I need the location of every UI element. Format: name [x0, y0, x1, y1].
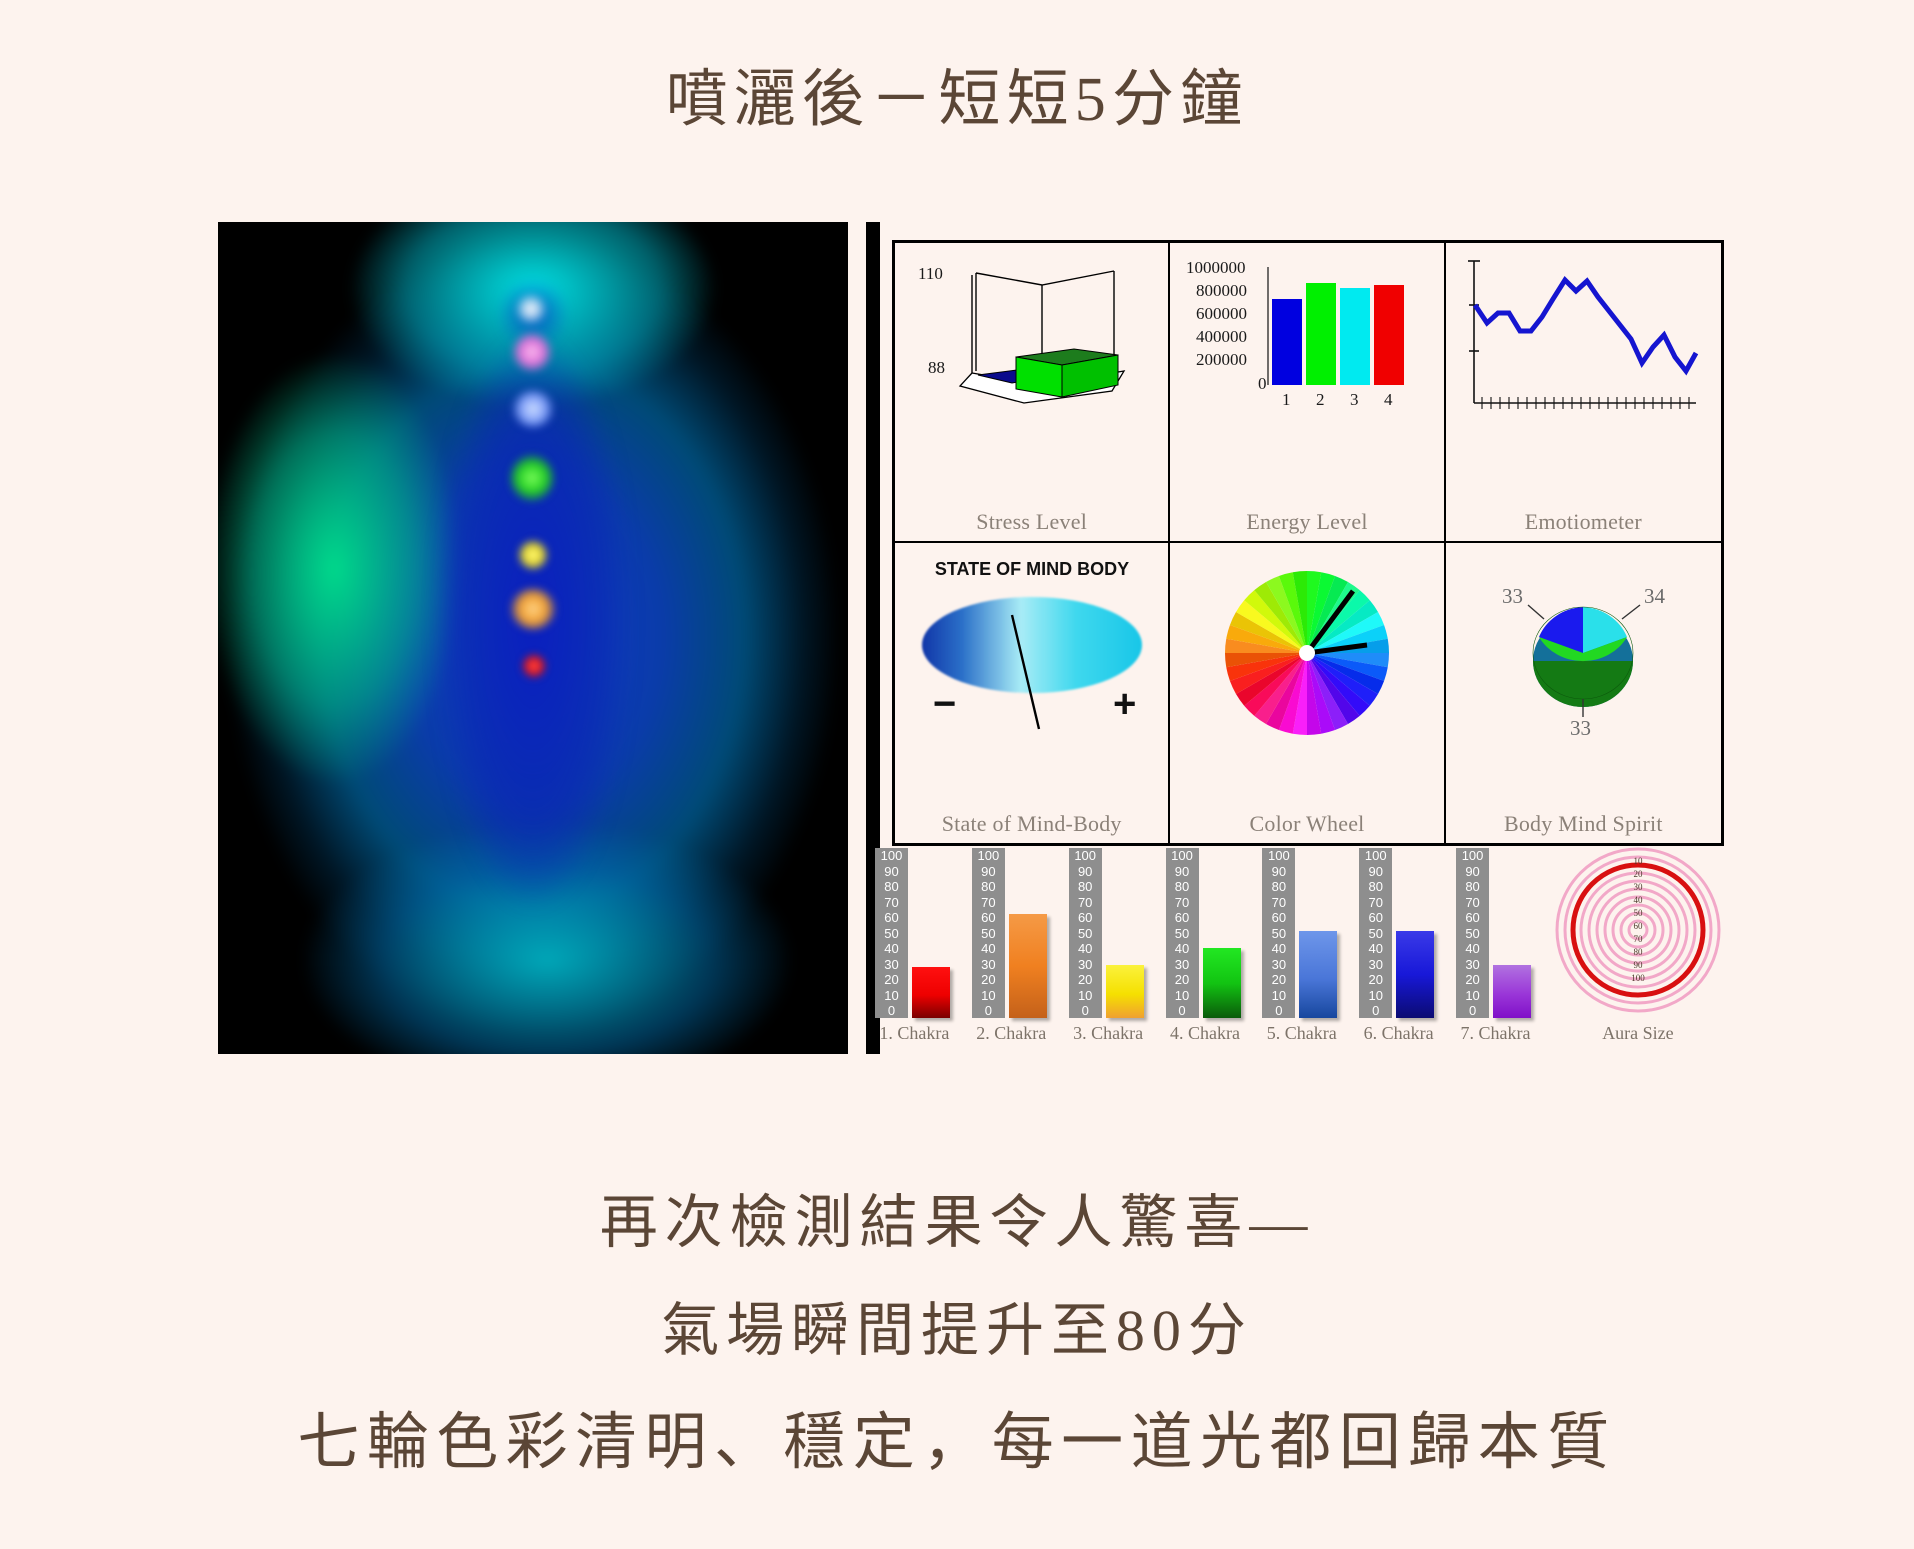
scale-tick: 70 [1465, 896, 1479, 909]
scale-tick: 50 [1368, 927, 1382, 940]
chakra-unit-1[interactable]: 100 90 80 70 60 50 40 30 20 10 0 1. Chak… [866, 848, 963, 1054]
chakra-dot-root [522, 654, 546, 678]
scale-tick: 10 [1465, 989, 1479, 1002]
chakra-bar-1 [912, 967, 950, 1018]
energy-ytick-0: 0 [1258, 374, 1267, 393]
scale-tick: 10 [1078, 989, 1092, 1002]
scale-tick: 80 [1175, 880, 1189, 893]
scale-tick: 80 [1465, 880, 1479, 893]
scale-tick: 0 [1469, 1004, 1476, 1017]
scale-tick: 60 [1368, 911, 1382, 924]
scale-tick: 60 [1078, 911, 1092, 924]
energy-level-chart: 1000000 800000 600000 400000 200000 0 1 … [1182, 253, 1432, 425]
scale-tick: 40 [1175, 942, 1189, 955]
emotiometer-caption: Emotiometer [1446, 509, 1721, 535]
scale-tick: 50 [981, 927, 995, 940]
scale-tick: 80 [1078, 880, 1092, 893]
scale-tick: 100 [1268, 849, 1290, 862]
chakra-bar-6 [1396, 931, 1434, 1018]
chakra-dot-sacral [510, 588, 556, 630]
bms-label-mind: 34 [1644, 584, 1666, 608]
bms-label-spirit: 33 [1570, 716, 1591, 740]
aura-size-chart: 10 20 30 40 50 60 70 80 90 100 [1546, 844, 1736, 1022]
scale-tick: 100 [977, 849, 999, 862]
scale-tick: 40 [1368, 942, 1382, 955]
chakra-bar-track-5 [1299, 848, 1337, 1018]
scale-tick: 50 [1078, 927, 1092, 940]
scale-tick: 70 [981, 896, 995, 909]
energy-xtick-2: 2 [1316, 390, 1325, 409]
state-of-mind-body-caption: State of Mind-Body [895, 811, 1168, 837]
scale-tick: 60 [1465, 911, 1479, 924]
scale-tick: 70 [884, 896, 898, 909]
panel-emotiometer[interactable]: Emotiometer [1446, 243, 1721, 543]
body-mind-spirit-chart: 33 34 33 [1458, 569, 1708, 755]
state-min-label: − [933, 682, 956, 726]
state-max-label: + [1113, 682, 1136, 726]
scale-tick: 80 [1368, 880, 1382, 893]
chakra-dot-third-eye [512, 332, 552, 372]
page-title: 噴灑後－短短5分鐘 [0, 48, 1914, 138]
chakra-unit-3[interactable]: 100 90 80 70 60 50 40 30 20 10 0 3. Chak… [1060, 848, 1157, 1054]
scale-tick: 10 [1272, 989, 1286, 1002]
scale-tick: 50 [884, 927, 898, 940]
scale-tick: 90 [1175, 865, 1189, 878]
scale-tick: 20 [1368, 973, 1382, 986]
emotiometer-chart [1458, 253, 1708, 429]
state-of-mind-body-gauge: STATE OF MIND BODY − + [907, 553, 1157, 739]
scale-tick: 20 [981, 973, 995, 986]
scale-tick: 30 [1465, 958, 1479, 971]
caption-block: 再次檢測結果令人驚喜— 氣場瞬間提升至80分 七輪色彩清明、穩定，每一道光都回歸… [0, 1175, 1914, 1481]
aura-ring-label-90: 90 [1633, 960, 1643, 970]
scale-tick: 70 [1175, 896, 1189, 909]
chakra-dot-crown [516, 294, 546, 324]
scale-tick: 60 [1175, 911, 1189, 924]
chakra-bar-track-2 [1009, 848, 1047, 1018]
scale-tick: 100 [1462, 849, 1484, 862]
scale-tick: 80 [1272, 880, 1286, 893]
chakra-scale-3: 100 90 80 70 60 50 40 30 20 10 0 [1069, 848, 1102, 1018]
analysis-panels: 110 88 Stress Level [866, 222, 1732, 1054]
scale-tick: 0 [888, 1004, 895, 1017]
panel-grid: 110 88 Stress Level [892, 240, 1724, 846]
chakra-bar-track-1 [912, 848, 950, 1018]
scale-tick: 30 [1078, 958, 1092, 971]
aura-ring-label-30: 30 [1633, 882, 1643, 892]
panel-body-mind-spirit[interactable]: 33 34 33 Body Mind Spirit [1446, 543, 1721, 843]
chakra-unit-2[interactable]: 100 90 80 70 60 50 40 30 20 10 0 2. Chak… [963, 848, 1060, 1054]
scale-tick: 50 [1465, 927, 1479, 940]
scale-tick: 0 [1082, 1004, 1089, 1017]
chakra-bar-3 [1106, 965, 1144, 1018]
scale-tick: 10 [981, 989, 995, 1002]
chakra-scale-4: 100 90 80 70 60 50 40 30 20 10 0 [1166, 848, 1199, 1018]
scale-tick: 10 [1175, 989, 1189, 1002]
panel-energy-level[interactable]: 1000000 800000 600000 400000 200000 0 1 … [1170, 243, 1445, 543]
scale-tick: 30 [1175, 958, 1189, 971]
scale-tick: 40 [884, 942, 898, 955]
chakra-unit-7[interactable]: 100 90 80 70 60 50 40 30 20 10 0 7. Chak… [1447, 848, 1544, 1054]
energy-xtick-1: 1 [1282, 390, 1291, 409]
chakra-label-6: 6. Chakra [1350, 1023, 1447, 1044]
scale-tick: 100 [1171, 849, 1193, 862]
scale-tick: 20 [1175, 973, 1189, 986]
aura-ring-label-50: 50 [1633, 908, 1643, 918]
scale-tick: 40 [1272, 942, 1286, 955]
scale-tick: 30 [981, 958, 995, 971]
stress-ytick-high: 110 [918, 264, 943, 283]
energy-ytick-600000: 600000 [1196, 304, 1247, 323]
scale-tick: 100 [881, 849, 903, 862]
panel-stress-level[interactable]: 110 88 Stress Level [895, 243, 1170, 543]
chakra-bar-track-3 [1106, 848, 1144, 1018]
scale-tick: 40 [981, 942, 995, 955]
chakra-scale-1: 100 90 80 70 60 50 40 30 20 10 0 [875, 848, 908, 1018]
scale-tick: 80 [981, 880, 995, 893]
chakra-scale-2: 100 90 80 70 60 50 40 30 20 10 0 [972, 848, 1005, 1018]
chakra-label-1: 1. Chakra [866, 1023, 963, 1044]
scale-tick: 20 [1078, 973, 1092, 986]
panel-color-wheel[interactable]: Color Wheel [1170, 543, 1445, 843]
color-wheel-caption: Color Wheel [1170, 811, 1443, 837]
scale-tick: 80 [884, 880, 898, 893]
chakra-scale-6: 100 90 80 70 60 50 40 30 20 10 0 [1359, 848, 1392, 1018]
chakra-bar-7 [1493, 965, 1531, 1018]
chakra-bar-track-4 [1203, 848, 1241, 1018]
caption-line-2: 氣場瞬間提升至80分 [0, 1283, 1914, 1367]
stress-level-caption: Stress Level [895, 509, 1168, 535]
energy-level-caption: Energy Level [1170, 509, 1443, 535]
scale-tick: 30 [884, 958, 898, 971]
chakra-unit-5[interactable]: 100 90 80 70 60 50 40 30 20 10 0 5. Chak… [1253, 848, 1350, 1054]
scale-tick: 20 [884, 973, 898, 986]
chakra-label-3: 3. Chakra [1060, 1023, 1157, 1044]
chakra-label-2: 2. Chakra [963, 1023, 1060, 1044]
chakra-unit-6[interactable]: 100 90 80 70 60 50 40 30 20 10 0 6. Chak… [1350, 848, 1447, 1054]
chakra-bar-5 [1299, 931, 1337, 1018]
chakra-dot-solar-plexus [518, 540, 548, 570]
chakra-bar-4 [1203, 948, 1241, 1018]
scale-tick: 0 [985, 1004, 992, 1017]
energy-ytick-400000: 400000 [1196, 327, 1247, 346]
energy-ytick-1000000: 1000000 [1186, 258, 1246, 277]
aura-body-silhouette [403, 270, 663, 1030]
bms-label-body: 33 [1502, 584, 1523, 608]
aura-ring-label-10: 10 [1633, 856, 1643, 866]
chakra-bar-track-6 [1396, 848, 1434, 1018]
scale-tick: 70 [1272, 896, 1286, 909]
caption-line-1: 再次檢測結果令人驚喜— [0, 1175, 1914, 1259]
color-wheel-chart [1207, 553, 1407, 753]
caption-line-3: 七輪色彩清明、穩定，每一道光都回歸本質 [0, 1391, 1914, 1481]
chakra-bar-track-7 [1493, 848, 1531, 1018]
scale-tick: 40 [1465, 942, 1479, 955]
chakra-scale-5: 100 90 80 70 60 50 40 30 20 10 0 [1262, 848, 1295, 1018]
scale-tick: 40 [1078, 942, 1092, 955]
aura-ring-label-60: 60 [1633, 921, 1643, 931]
scale-tick: 10 [1368, 989, 1382, 1002]
scale-tick: 70 [1368, 896, 1382, 909]
scale-tick: 0 [1178, 1004, 1185, 1017]
body-mind-spirit-caption: Body Mind Spirit [1446, 811, 1721, 837]
state-of-mind-body-heading: STATE OF MIND BODY [934, 559, 1128, 579]
scale-tick: 100 [1074, 849, 1096, 862]
scale-tick: 90 [981, 865, 995, 878]
scale-tick: 90 [1078, 865, 1092, 878]
stress-level-chart: 110 88 [912, 253, 1152, 423]
aura-ring-label-40: 40 [1633, 895, 1643, 905]
scale-tick: 90 [1368, 865, 1382, 878]
aura-size-caption: Aura Size [1544, 1023, 1732, 1044]
scale-tick: 50 [1175, 927, 1189, 940]
scale-tick: 90 [1465, 865, 1479, 878]
stress-ytick-low: 88 [928, 358, 945, 377]
chakra-label-5: 5. Chakra [1253, 1023, 1350, 1044]
aura-photograph [218, 222, 848, 1054]
chakra-dot-heart [510, 454, 554, 502]
chakra-scale-7: 100 90 80 70 60 50 40 30 20 10 0 [1456, 848, 1489, 1018]
chakra-dot-throat [512, 390, 554, 428]
chakra-label-4: 4. Chakra [1157, 1023, 1254, 1044]
scale-tick: 100 [1365, 849, 1387, 862]
scale-tick: 0 [1372, 1004, 1379, 1017]
scale-tick: 60 [884, 911, 898, 924]
chakra-bar-2 [1009, 914, 1047, 1018]
panel-state-of-mind-body[interactable]: STATE OF MIND BODY − + [895, 543, 1170, 843]
aura-ring-label-70: 70 [1633, 934, 1643, 944]
scale-tick: 10 [884, 989, 898, 1002]
scale-tick: 20 [1272, 973, 1286, 986]
panel-aura-size[interactable]: 10 20 30 40 50 60 70 80 90 100 Aura Size [1544, 848, 1732, 1054]
scale-tick: 90 [1272, 865, 1286, 878]
energy-ytick-800000: 800000 [1196, 281, 1247, 300]
scale-tick: 70 [1078, 896, 1092, 909]
aura-ring-label-100: 100 [1631, 973, 1645, 983]
chakra-bars-row: 100 90 80 70 60 50 40 30 20 10 0 1. Chak… [866, 848, 1732, 1054]
scale-tick: 60 [1272, 911, 1286, 924]
aura-report: 110 88 Stress Level [218, 222, 1732, 1054]
scale-tick: 30 [1272, 958, 1286, 971]
energy-ytick-200000: 200000 [1196, 350, 1247, 369]
energy-xtick-4: 4 [1384, 390, 1393, 409]
scale-tick: 20 [1465, 973, 1479, 986]
scale-tick: 0 [1275, 1004, 1282, 1017]
chakra-unit-4[interactable]: 100 90 80 70 60 50 40 30 20 10 0 4. Chak… [1157, 848, 1254, 1054]
energy-xtick-3: 3 [1350, 390, 1359, 409]
chakra-label-7: 7. Chakra [1447, 1023, 1544, 1044]
scale-tick: 30 [1368, 958, 1382, 971]
aura-ring-label-80: 80 [1633, 947, 1643, 957]
scale-tick: 60 [981, 911, 995, 924]
scale-tick: 90 [884, 865, 898, 878]
aura-ring-label-20: 20 [1633, 869, 1643, 879]
scale-tick: 50 [1272, 927, 1286, 940]
